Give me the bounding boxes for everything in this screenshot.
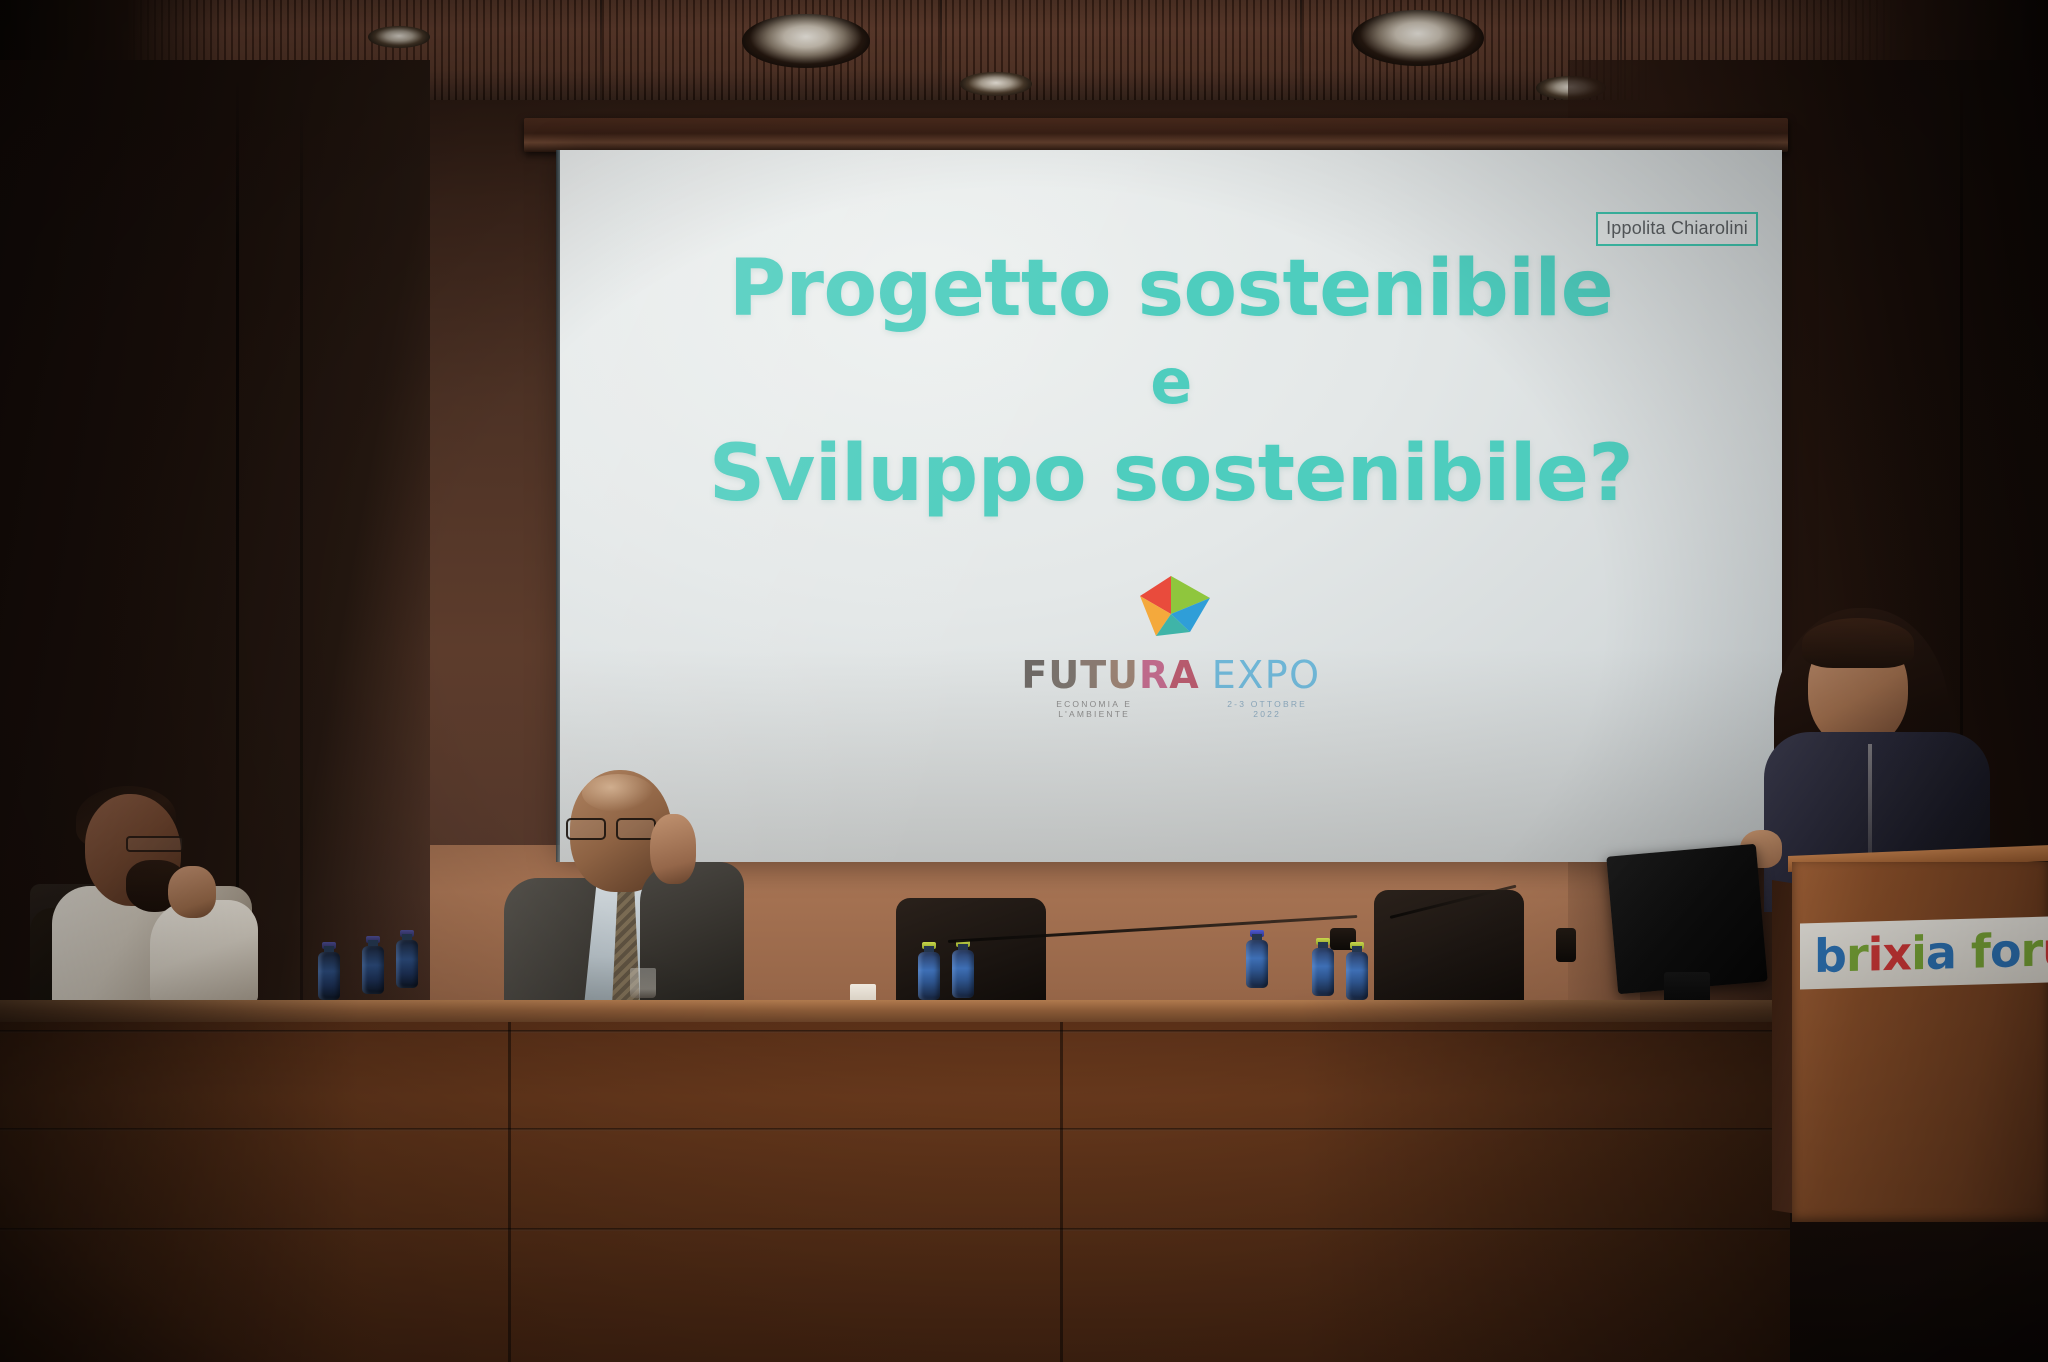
slide-title-line-2: e — [560, 341, 1782, 423]
head-highlight — [582, 774, 654, 812]
ceiling-seam — [940, 0, 942, 112]
conference-hall-photo: Ippolita Chiarolini Progetto sostenibile… — [0, 0, 2048, 1362]
logo-expo-word: EXPO — [1212, 656, 1321, 694]
ceiling-light-icon — [742, 14, 870, 68]
table-shadow — [0, 1000, 360, 1362]
ceiling-seam — [600, 0, 602, 112]
slide-title-line-1: Progetto sostenibile — [560, 238, 1782, 341]
ceiling-seam — [1300, 0, 1302, 112]
logo-futura-word: FUTURA — [1021, 656, 1199, 694]
chair — [1374, 890, 1524, 1006]
ceiling-light-icon — [368, 26, 430, 48]
hand — [168, 866, 216, 918]
water-bottle — [318, 942, 340, 1000]
water-bottle — [1246, 930, 1268, 988]
hand — [650, 814, 696, 884]
water-bottle — [918, 942, 940, 1000]
glasses-icon — [126, 836, 184, 852]
slide-title-line-3: Sviluppo sostenibile? — [560, 423, 1782, 526]
water-glass — [630, 968, 656, 998]
ceiling-light-icon — [1352, 10, 1484, 66]
table-seam — [508, 1022, 511, 1362]
wall-column-edge — [300, 96, 303, 1036]
ceiling-light-icon — [960, 72, 1032, 96]
projection-screen: Ippolita Chiarolini Progetto sostenibile… — [560, 150, 1782, 862]
futura-expo-logo: FUTURA EXPO ECONOMIA E L'AMBIENTE 2-3 OT… — [1021, 574, 1321, 719]
water-bottle — [362, 936, 384, 994]
slide-title: Progetto sostenibile e Sviluppo sostenib… — [560, 238, 1782, 526]
glasses-icon — [566, 818, 660, 840]
table-shadow — [1300, 1000, 1800, 1362]
kite-logo-icon — [1128, 574, 1214, 652]
logo-tagline: ECONOMIA E L'AMBIENTE 2-3 OTTOBRE 2022 — [1021, 699, 1321, 719]
podium — [1792, 862, 2048, 1222]
water-bottle — [396, 930, 418, 988]
venue-wordmark: brixia foru — [1800, 926, 2048, 980]
water-bottle — [1312, 938, 1334, 996]
water-bottle — [952, 940, 974, 998]
screen-roller-housing — [524, 118, 1788, 152]
podium-sign: brixia foru — [1800, 917, 2048, 990]
water-bottle — [1346, 942, 1368, 1000]
logo-tagline-2: 2-3 OTTOBRE 2022 — [1213, 699, 1321, 719]
hair-bangs — [1802, 618, 1914, 668]
table-seam — [1060, 1022, 1063, 1362]
panelist-left — [30, 790, 290, 1005]
microphone-head — [1556, 928, 1576, 962]
logo-tagline-1: ECONOMIA E L'AMBIENTE — [1021, 699, 1167, 719]
